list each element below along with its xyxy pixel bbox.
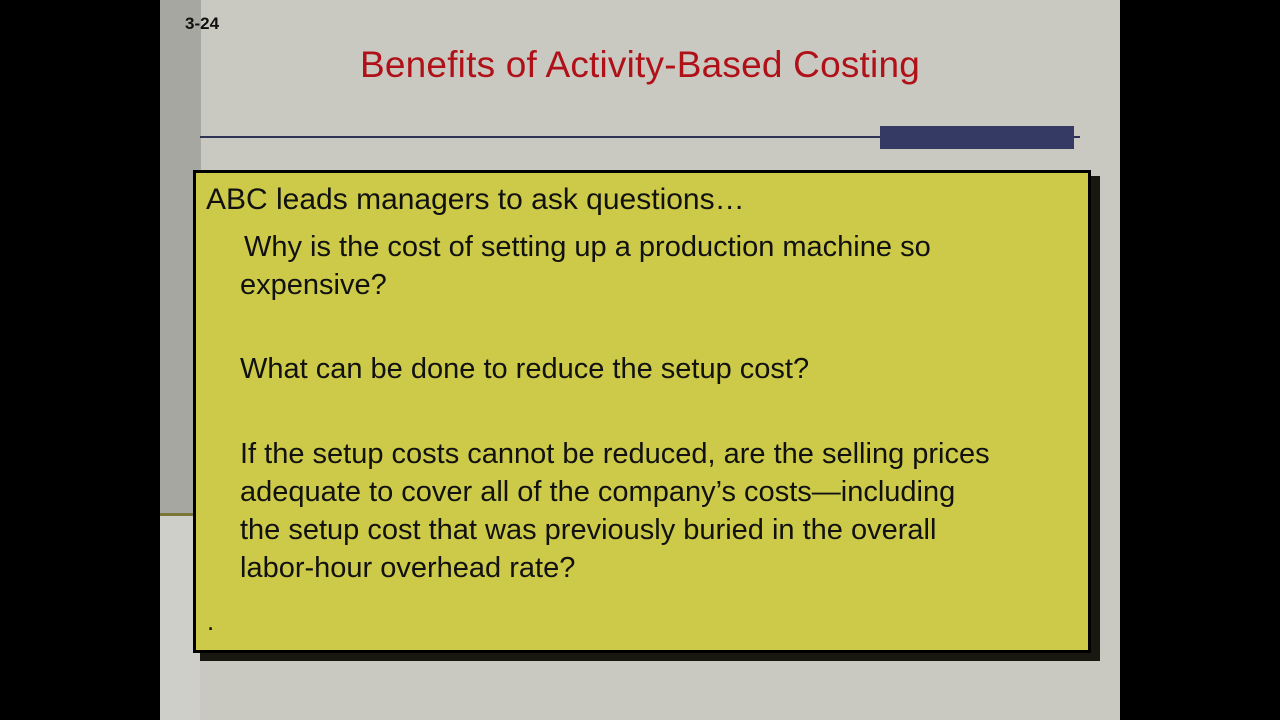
screen: 3-24 Benefits of Activity-Based Costing …	[0, 0, 1280, 720]
slide-title: Benefits of Activity-Based Costing	[200, 44, 1080, 86]
content-trailing-mark: .	[207, 608, 214, 634]
letterbox-bar-right	[1120, 0, 1280, 720]
question-3-line-4: labor-hour overhead rate?	[240, 552, 575, 585]
title-accent-block	[880, 126, 1074, 149]
content-box-inner: ABC leads managers to ask questions… Why…	[196, 173, 1088, 650]
presentation-slide: 3-24 Benefits of Activity-Based Costing …	[160, 0, 1120, 720]
content-box: ABC leads managers to ask questions… Why…	[193, 170, 1091, 653]
letterbox-bar-left	[0, 0, 160, 720]
question-2-line-1: What can be done to reduce the setup cos…	[240, 353, 809, 386]
question-3-line-1: If the setup costs cannot be reduced, ar…	[240, 438, 990, 471]
question-3-line-3: the setup cost that was previously burie…	[240, 514, 936, 547]
content-lead-in: ABC leads managers to ask questions…	[206, 183, 745, 217]
page-number: 3-24	[185, 14, 219, 34]
question-1-line-1: Why is the cost of setting up a producti…	[244, 231, 931, 264]
question-1-line-2: expensive?	[240, 269, 387, 302]
question-3-line-2: adequate to cover all of the company’s c…	[240, 476, 955, 509]
